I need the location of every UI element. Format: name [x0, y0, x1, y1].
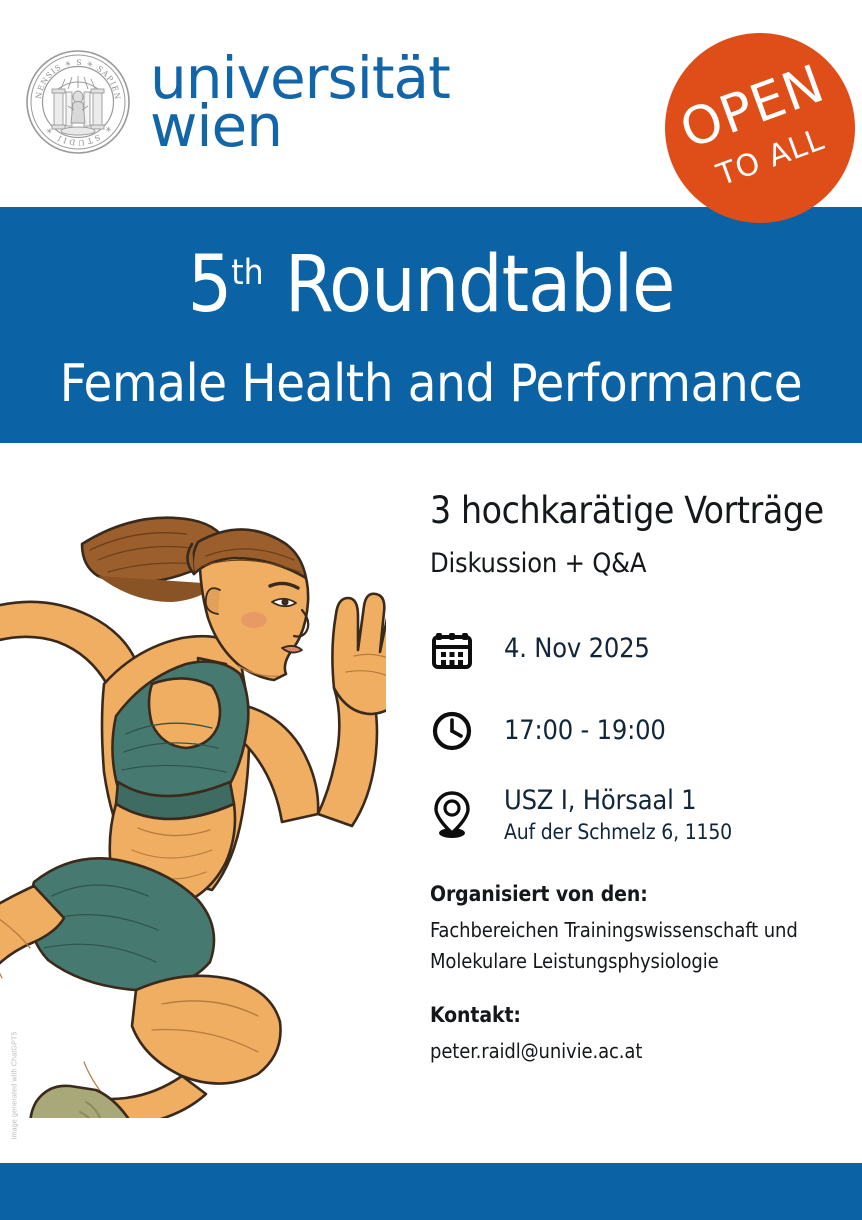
fact-row-date: 4. Nov 2025: [430, 621, 840, 677]
footer-blocks: Organisiert von den: Fachbereichen Train…: [430, 882, 840, 1067]
organizer-block: Organisiert von den: Fachbereichen Train…: [430, 882, 840, 977]
university-wordmark: universität wien: [150, 55, 450, 150]
image-credit: Image generated with ChatGPT5: [12, 1016, 19, 1156]
fact-row-time: 17:00 - 19:00: [430, 703, 840, 759]
contact-email[interactable]: peter.raidl@univie.ac.at: [430, 1036, 840, 1067]
svg-text:VIENNENSIS ✳ S ✳ SAPIENTIAE: VIENNENSIS ✳ S ✳ SAPIENTIAE: [24, 48, 122, 101]
title-number: 5: [188, 240, 232, 330]
university-seal-icon: VIENNENSIS ✳ S ✳ SAPIENTIAE ✳ STUDII ✳: [24, 48, 132, 156]
organizer-label: Organisiert von den:: [430, 882, 840, 906]
calendar-icon: [430, 621, 482, 677]
fact-text-time: 17:00 - 19:00: [482, 715, 666, 746]
location-pin-icon: [430, 786, 482, 842]
university-logo: VIENNENSIS ✳ S ✳ SAPIENTIAE ✳ STUDII ✳: [24, 48, 450, 156]
organizer-line-2: Molekulare Leistungsphysiologie: [430, 946, 840, 977]
fact-text-location: USZ I, Hörsaal 1 Auf der Schmelz 6, 1150: [482, 785, 732, 844]
title-main-word: Roundtable: [285, 240, 674, 330]
contact-label: Kontakt:: [430, 1003, 840, 1027]
clock-icon: [430, 703, 482, 759]
contact-block: Kontakt: peter.raidl@univie.ac.at: [430, 1003, 840, 1067]
event-details: 3 hochkarätige Vorträge Diskussion + Q&A: [430, 492, 840, 1093]
fact-list: 4. Nov 2025 17:00 - 19:00: [430, 621, 840, 844]
talks-headline: 3 hochkarätige Vorträge: [430, 492, 840, 531]
title-ordinal-suffix: th: [231, 252, 263, 293]
date-value: 4. Nov 2025: [504, 633, 650, 664]
discussion-subline: Diskussion + Q&A: [430, 548, 840, 579]
page-title: 5th Roundtable: [188, 246, 675, 324]
bottom-accent-bar: [0, 1163, 862, 1220]
female-runner-illustration: [0, 498, 386, 1118]
time-value: 17:00 - 19:00: [504, 715, 666, 746]
poster-canvas: VIENNENSIS ✳ S ✳ SAPIENTIAE ✳ STUDII ✳: [0, 0, 862, 1220]
venue-value: USZ I, Hörsaal 1: [504, 785, 732, 816]
wordmark-line-2: wien: [150, 103, 450, 149]
address-value: Auf der Schmelz 6, 1150: [504, 820, 732, 844]
title-banner: 5th Roundtable Female Health and Perform…: [0, 207, 862, 443]
organizer-line-1: Fachbereichen Trainingswissenschaft und: [430, 915, 840, 946]
open-to-all-badge: OPEN TO ALL: [665, 33, 855, 223]
fact-text-date: 4. Nov 2025: [482, 633, 650, 664]
page-subtitle: Female Health and Performance: [60, 358, 803, 410]
fact-row-location: USZ I, Hörsaal 1 Auf der Schmelz 6, 1150: [430, 785, 840, 844]
